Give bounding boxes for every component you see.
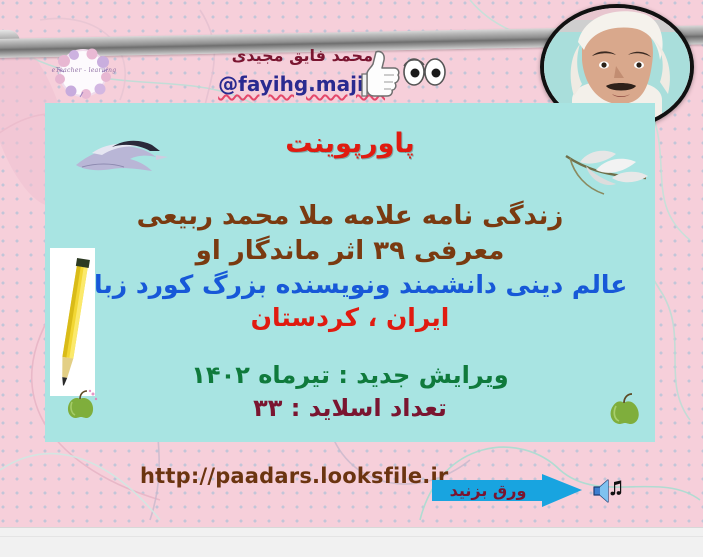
eteacher-logo: eTeacher - learning [48, 47, 120, 99]
next-slide-label: ورق بزنید [432, 480, 544, 501]
logo-text: eTeacher - learning [48, 67, 120, 74]
yellow-pencil-image [50, 248, 95, 396]
website-url[interactable]: http://paadars.looksfile.ir [140, 464, 448, 488]
green-apple-image [604, 390, 644, 426]
green-apple-image [62, 388, 98, 420]
slide-title-line-2: معرفی ۳۹ اثر ماندگار او [45, 236, 655, 266]
speaker-sound-icon[interactable] [592, 476, 628, 506]
page-bottom-bar [0, 527, 703, 557]
slide-viewer: eTeacher - learning محمد فایق مجیدی @fay… [0, 0, 703, 556]
flying-bird-image [72, 133, 170, 181]
leaf-branch-image [560, 148, 652, 208]
author-name: محمد فایق مجیدی [232, 46, 373, 65]
eyes-icon [402, 56, 448, 90]
slide-subtitle-line-2: ایران ، کردستان [45, 303, 655, 332]
next-slide-button[interactable]: ورق بزنید [432, 474, 582, 507]
slide-edition: ویرایش جدید : تیرماه ۱۴۰۲ [45, 361, 655, 389]
slide-subtitle-line-1: عالم دینی دانشمند ونویسنده بزرگ کورد زبا… [45, 270, 655, 299]
thumbs-up-icon [360, 48, 402, 100]
slide-count: تعداد اسلاید : ۳۳ [45, 394, 655, 422]
